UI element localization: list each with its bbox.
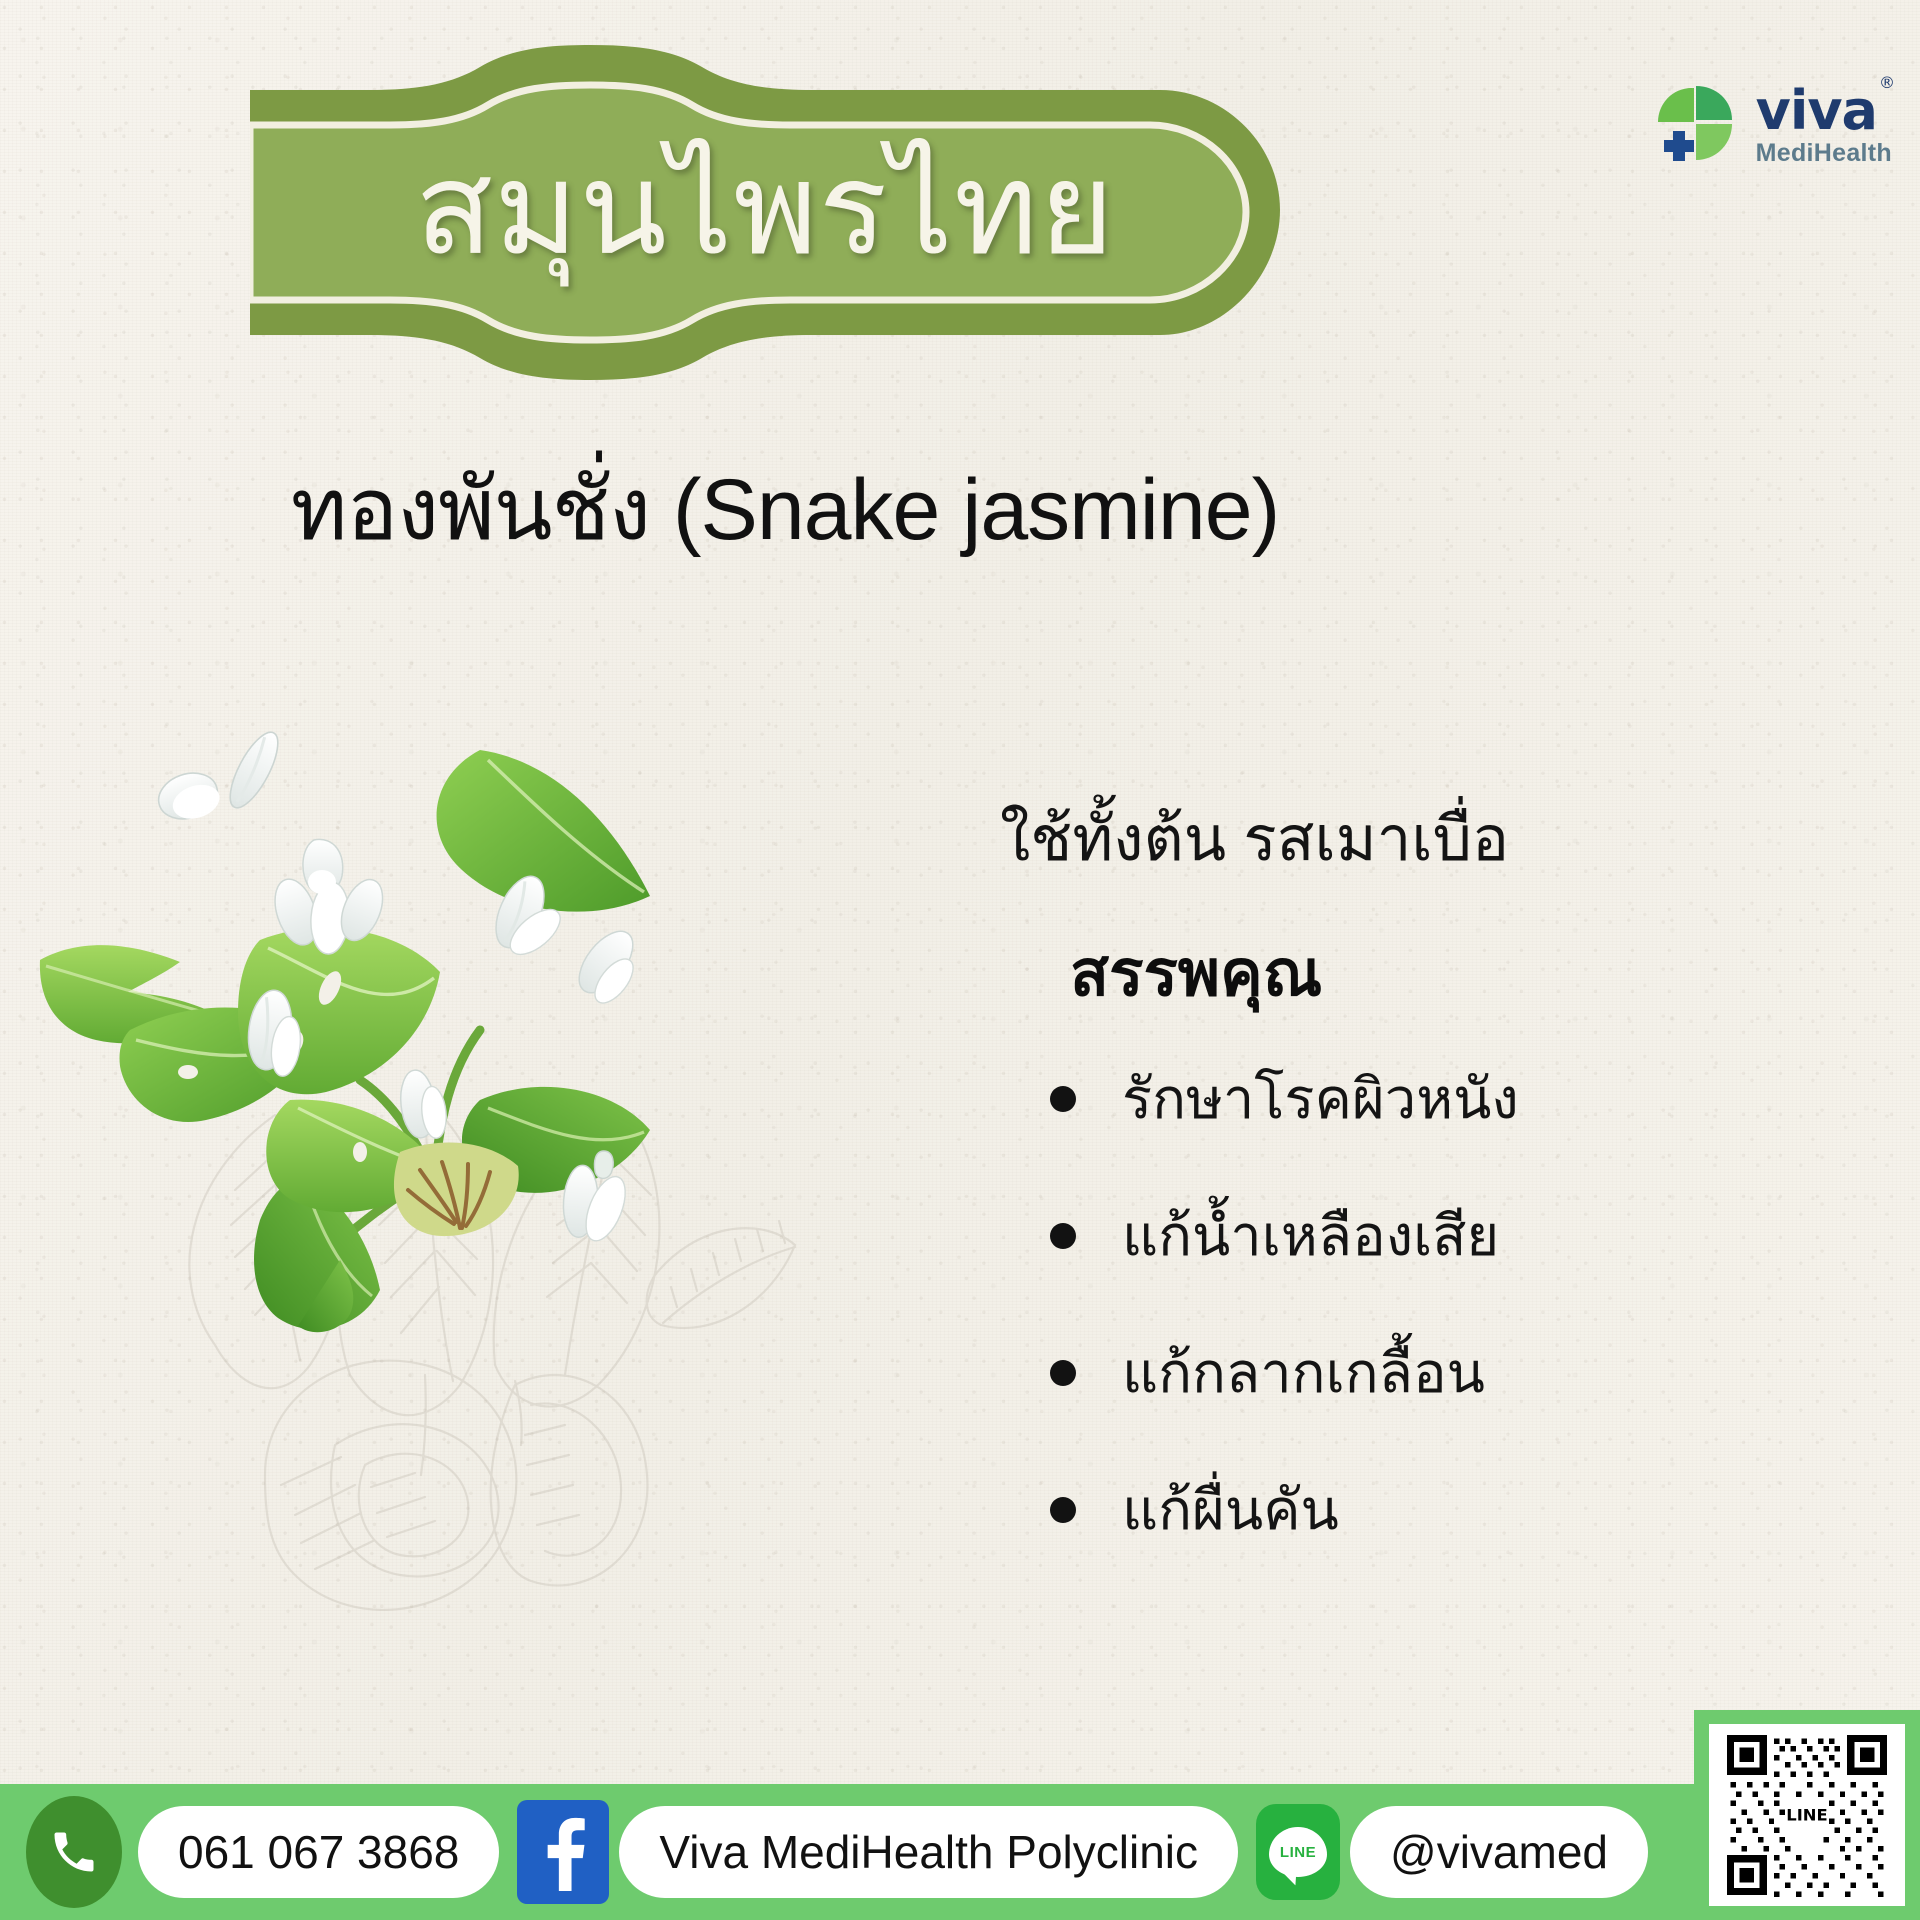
phone-number-label: 061 067 3868 xyxy=(178,1825,459,1879)
line-id-label: @vivamed xyxy=(1390,1825,1608,1879)
poster-canvas: สมุนไพรไทย viva® MediHealth ทองพันชั่ง (… xyxy=(0,0,1920,1920)
list-item-label: แก้กลากเกลื้อน xyxy=(1122,1341,1485,1404)
brand-name: viva xyxy=(1756,79,1877,142)
brand-wordmark: viva® MediHealth xyxy=(1756,84,1892,166)
properties-heading: สรรพคุณ xyxy=(1070,922,1800,1024)
list-item: แก้ผื่นคัน xyxy=(1030,1465,1800,1554)
facebook-icon[interactable] xyxy=(517,1800,609,1904)
info-column: ใช้ทั้งต้น รสเมาเบื่อ สรรพคุณ รักษาโรคผิ… xyxy=(1000,790,1800,1602)
bullet-icon xyxy=(1050,1086,1076,1112)
line-icon[interactable]: LINE xyxy=(1256,1804,1340,1900)
list-item: แก้น้ำเหลืองเสีย xyxy=(1030,1191,1800,1280)
phone-icon[interactable] xyxy=(26,1796,122,1908)
list-item-label: แก้ผื่นคัน xyxy=(1122,1478,1339,1541)
brand-tagline: MediHealth xyxy=(1756,141,1892,166)
facebook-page-label: Viva MediHealth Polyclinic xyxy=(659,1825,1198,1879)
contact-footer-bar: 061 067 3868 Viva MediHealth Polyclinic … xyxy=(0,1784,1694,1920)
bullet-icon xyxy=(1050,1360,1076,1386)
leaf-cross-icon xyxy=(1654,82,1740,168)
bullet-icon xyxy=(1050,1223,1076,1249)
header-banner: สมุนไพรไทย xyxy=(250,45,1280,380)
page-title: ทองพันชั่ง (Snake jasmine) xyxy=(0,440,1570,577)
line-qr-code-panel: LINE xyxy=(1694,1710,1920,1920)
brand-logo: viva® MediHealth xyxy=(1654,82,1892,168)
usage-line: ใช้ทั้งต้น รสเมาเบื่อ xyxy=(1000,790,1800,888)
banner-title: สมุนไพรไทย xyxy=(250,45,1280,380)
list-item-label: แก้น้ำเหลืองเสีย xyxy=(1122,1204,1499,1267)
line-id-chip[interactable]: @vivamed xyxy=(1350,1806,1648,1898)
list-item-label: รักษาโรคผิวหนัง xyxy=(1122,1067,1519,1130)
list-item: รักษาโรคผิวหนัง xyxy=(1030,1054,1800,1143)
properties-list: รักษาโรคผิวหนัง แก้น้ำเหลืองเสีย แก้กลาก… xyxy=(1030,1054,1800,1554)
registered-mark: ® xyxy=(1879,73,1894,92)
svg-text:LINE: LINE xyxy=(1786,1805,1827,1824)
phone-number-chip[interactable]: 061 067 3868 xyxy=(138,1806,499,1898)
line-icon-label: LINE xyxy=(1280,1844,1316,1861)
line-qr-code[interactable]: LINE xyxy=(1709,1724,1905,1906)
facebook-page-chip[interactable]: Viva MediHealth Polyclinic xyxy=(619,1806,1238,1898)
list-item: แก้กลากเกลื้อน xyxy=(1030,1328,1800,1417)
snake-jasmine-plant-photo xyxy=(10,700,730,1400)
bullet-icon xyxy=(1050,1497,1076,1523)
